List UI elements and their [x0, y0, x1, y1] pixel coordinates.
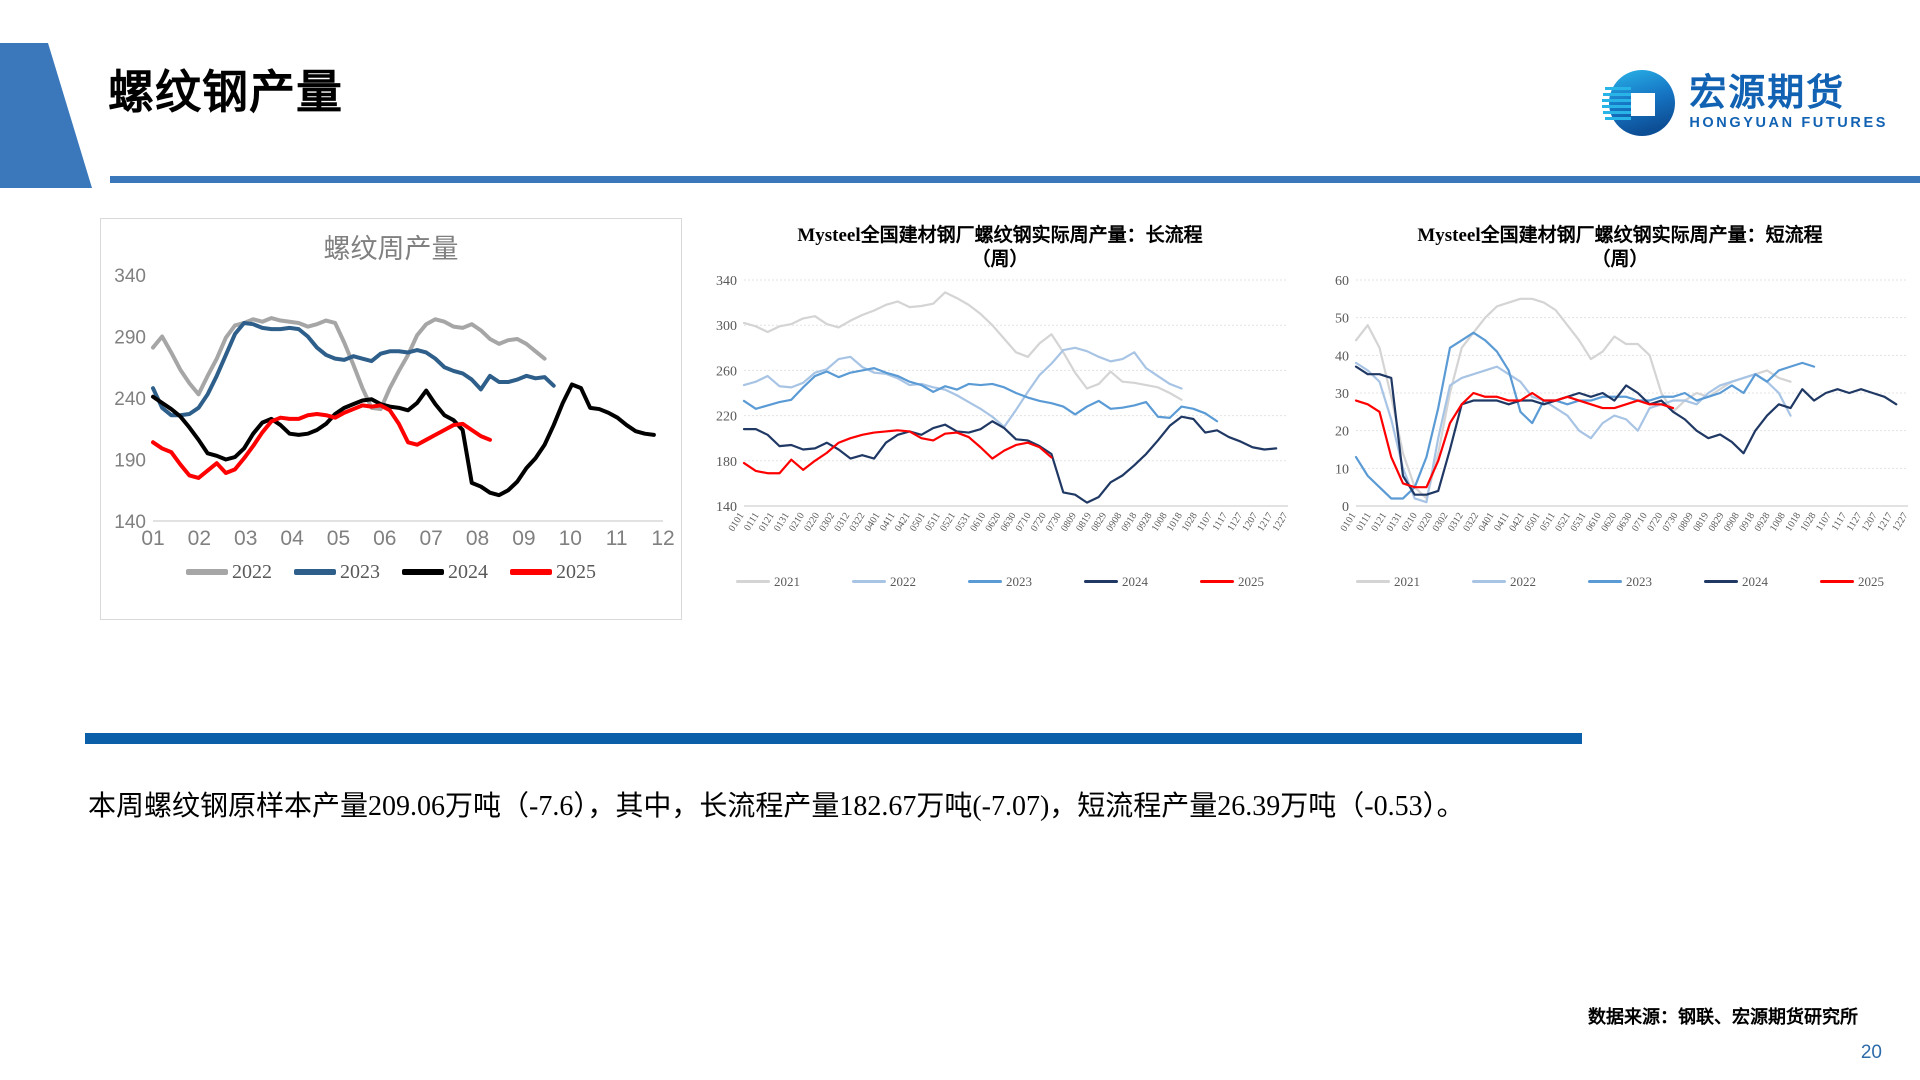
svg-text:0210: 0210 [1400, 510, 1420, 533]
legend-label-2023: 2023 [340, 561, 380, 584]
svg-text:0819: 0819 [1074, 510, 1094, 533]
legend-label-2024: 2024 [1122, 574, 1148, 590]
svg-text:0918: 0918 [1120, 510, 1140, 533]
svg-text:260: 260 [716, 364, 737, 379]
legend-label-2023: 2023 [1626, 574, 1652, 590]
svg-text:50: 50 [1335, 311, 1349, 326]
svg-text:0302: 0302 [1431, 510, 1451, 533]
chart-weekly-plot: 140190240290340010203040506070809101112 [101, 267, 681, 557]
svg-text:1028: 1028 [1799, 510, 1819, 533]
chart-short-process-output: Mysteel全国建材钢厂螺纹钢实际周产量：短流程 （周） 0102030405… [1320, 218, 1920, 618]
svg-text:0730: 0730 [1661, 510, 1681, 533]
legend-label-2021: 2021 [774, 574, 800, 590]
svg-text:30: 30 [1335, 387, 1349, 402]
legend-item-2024: 2024 [1704, 574, 1768, 590]
legend-swatch-2025 [1820, 580, 1854, 583]
legend-swatch-2021 [736, 580, 770, 583]
svg-text:0918: 0918 [1737, 510, 1757, 533]
svg-text:11: 11 [606, 527, 628, 550]
svg-text:1107: 1107 [1814, 510, 1834, 532]
svg-text:12: 12 [651, 527, 674, 550]
svg-text:60: 60 [1335, 274, 1349, 289]
chart-long-process-output: Mysteel全国建材钢厂螺纹钢实际周产量：长流程 （周） 1401802202… [700, 218, 1300, 618]
svg-text:0928: 0928 [1753, 510, 1773, 533]
legend-label-2024: 2024 [448, 561, 488, 584]
svg-text:0401: 0401 [1477, 510, 1497, 533]
svg-text:0531: 0531 [1569, 510, 1589, 533]
svg-text:1217: 1217 [1875, 510, 1895, 533]
svg-text:0220: 0220 [1415, 510, 1435, 533]
svg-text:0809: 0809 [1676, 510, 1696, 533]
svg-text:0620: 0620 [1599, 510, 1619, 533]
page-title: 螺纹钢产量 [108, 56, 343, 122]
svg-text:0829: 0829 [1707, 510, 1727, 533]
legend-item-2021: 2021 [736, 574, 800, 590]
svg-text:10: 10 [559, 527, 582, 550]
svg-text:1018: 1018 [1165, 510, 1185, 533]
svg-text:40: 40 [1335, 349, 1349, 364]
svg-text:0521: 0521 [938, 510, 958, 533]
brand-wordmark: 宏源期货 HONGYUAN FUTURES [1689, 74, 1888, 132]
legend-label-2022: 2022 [1510, 574, 1536, 590]
legend-label-2025: 2025 [556, 561, 596, 584]
svg-text:0210: 0210 [787, 510, 807, 533]
svg-text:340: 340 [716, 274, 737, 289]
svg-text:0908: 0908 [1104, 510, 1124, 533]
svg-text:0312: 0312 [1446, 510, 1466, 533]
svg-text:0131: 0131 [772, 510, 792, 533]
svg-text:1207: 1207 [1240, 510, 1260, 533]
svg-text:1008: 1008 [1768, 510, 1788, 533]
svg-text:08: 08 [466, 527, 489, 550]
svg-text:0819: 0819 [1691, 510, 1711, 533]
svg-text:1217: 1217 [1256, 510, 1276, 533]
legend-swatch-2022 [186, 569, 228, 575]
svg-text:1117: 1117 [1830, 510, 1850, 532]
chart-long-process-plot: 1401802202603003400101011101210131021002… [700, 272, 1300, 572]
svg-text:340: 340 [114, 267, 146, 287]
chart-weekly-title: 螺纹周产量 [101, 219, 681, 267]
svg-text:180: 180 [716, 454, 737, 469]
legend-swatch-2023 [294, 569, 336, 575]
legend-item-2025: 2025 [510, 561, 596, 584]
svg-text:0809: 0809 [1059, 510, 1079, 533]
svg-text:0121: 0121 [1369, 510, 1389, 533]
svg-text:0710: 0710 [1630, 510, 1650, 533]
legend-item-2022: 2022 [1472, 574, 1536, 590]
chart-short-process-plot: 0102030405060010101110121013102100220030… [1320, 272, 1920, 572]
svg-text:0730: 0730 [1044, 510, 1064, 533]
svg-text:10: 10 [1335, 462, 1349, 477]
chart-long-process-legend: 20212022202320242025 [700, 574, 1300, 590]
svg-text:1028: 1028 [1180, 510, 1200, 533]
svg-text:0720: 0720 [1029, 510, 1049, 533]
svg-text:04: 04 [280, 527, 304, 550]
legend-item-2023: 2023 [1588, 574, 1652, 590]
legend-item-2023: 2023 [968, 574, 1032, 590]
legend-swatch-2021 [1356, 580, 1390, 583]
svg-text:0501: 0501 [908, 510, 928, 533]
svg-text:01: 01 [141, 527, 164, 550]
legend-swatch-2025 [510, 569, 552, 575]
svg-text:290: 290 [114, 327, 146, 348]
legend-swatch-2024 [402, 569, 444, 575]
legend-item-2023: 2023 [294, 561, 380, 584]
svg-text:20: 20 [1335, 424, 1349, 439]
body-divider [85, 733, 1582, 744]
svg-text:0720: 0720 [1645, 510, 1665, 533]
svg-text:06: 06 [373, 527, 396, 550]
legend-item-2021: 2021 [1356, 574, 1420, 590]
legend-item-2024: 2024 [1084, 574, 1148, 590]
header-divider [110, 176, 1920, 183]
svg-text:140: 140 [716, 500, 737, 515]
svg-text:0131: 0131 [1385, 510, 1405, 533]
svg-text:0630: 0630 [999, 510, 1019, 533]
legend-swatch-2023 [1588, 580, 1622, 583]
legend-swatch-2022 [852, 580, 886, 583]
svg-text:1008: 1008 [1150, 510, 1170, 533]
svg-text:0302: 0302 [817, 510, 837, 533]
svg-text:0322: 0322 [848, 510, 868, 533]
svg-text:1227: 1227 [1271, 510, 1291, 533]
legend-item-2025: 2025 [1200, 574, 1264, 590]
svg-text:240: 240 [114, 389, 146, 410]
brand-logo: 宏源期货 HONGYUAN FUTURES [1601, 62, 1888, 144]
legend-label-2022: 2022 [890, 574, 916, 590]
svg-text:0928: 0928 [1135, 510, 1155, 533]
legend-label-2025: 2025 [1238, 574, 1264, 590]
page-number: 20 [1861, 1042, 1882, 1064]
svg-text:0531: 0531 [953, 510, 973, 533]
chart-short-process-legend: 20212022202320242025 [1320, 574, 1920, 590]
legend-label-2024: 2024 [1742, 574, 1768, 590]
chart-weekly-legend: 2022202320242025 [101, 561, 681, 584]
svg-text:0501: 0501 [1523, 510, 1543, 533]
legend-label-2023: 2023 [1006, 574, 1032, 590]
svg-text:0421: 0421 [893, 510, 913, 533]
summary-paragraph: 本周螺纹钢原样本产量209.06万吨（-7.6），其中，长流程产量182.67万… [88, 785, 1608, 828]
svg-text:0620: 0620 [984, 510, 1004, 533]
svg-text:03: 03 [234, 527, 257, 550]
svg-text:05: 05 [327, 527, 350, 550]
chart-weekly-rebar-output: 螺纹周产量 1401902402903400102030405060708091… [100, 218, 682, 620]
svg-text:1018: 1018 [1783, 510, 1803, 533]
svg-text:190: 190 [114, 450, 146, 471]
svg-text:1207: 1207 [1860, 510, 1880, 533]
svg-text:0322: 0322 [1461, 510, 1481, 533]
svg-text:0829: 0829 [1089, 510, 1109, 533]
header-corner-decoration [0, 43, 110, 188]
svg-text:300: 300 [716, 319, 737, 334]
legend-swatch-2024 [1704, 580, 1738, 583]
legend-label-2021: 2021 [1394, 574, 1420, 590]
legend-item-2024: 2024 [402, 561, 488, 584]
svg-text:0521: 0521 [1553, 510, 1573, 533]
svg-text:07: 07 [420, 527, 443, 550]
svg-text:02: 02 [188, 527, 211, 550]
brand-name-en: HONGYUAN FUTURES [1689, 115, 1888, 132]
svg-text:09: 09 [512, 527, 535, 550]
chart-short-process-title: Mysteel全国建材钢厂螺纹钢实际周产量：短流程 （周） [1320, 218, 1920, 272]
company-logo-icon [1601, 64, 1679, 142]
legend-item-2022: 2022 [186, 561, 272, 584]
svg-text:0630: 0630 [1615, 510, 1635, 533]
svg-text:0121: 0121 [757, 510, 777, 533]
svg-text:0610: 0610 [968, 510, 988, 533]
legend-item-2025: 2025 [1820, 574, 1884, 590]
svg-text:0421: 0421 [1507, 510, 1527, 533]
svg-text:0908: 0908 [1722, 510, 1742, 533]
svg-text:220: 220 [716, 409, 737, 424]
legend-label-2025: 2025 [1858, 574, 1884, 590]
legend-swatch-2024 [1084, 580, 1118, 583]
brand-name-cn: 宏源期货 [1689, 74, 1888, 113]
legend-swatch-2023 [968, 580, 1002, 583]
svg-text:0401: 0401 [863, 510, 883, 533]
chart-long-process-title: Mysteel全国建材钢厂螺纹钢实际周产量：长流程 （周） [700, 218, 1300, 272]
svg-text:0610: 0610 [1584, 510, 1604, 533]
svg-text:0220: 0220 [802, 510, 822, 533]
svg-text:0312: 0312 [832, 510, 852, 533]
legend-swatch-2025 [1200, 580, 1234, 583]
legend-label-2022: 2022 [232, 561, 272, 584]
svg-text:1107: 1107 [1195, 510, 1215, 532]
legend-item-2022: 2022 [852, 574, 916, 590]
svg-text:1227: 1227 [1891, 510, 1911, 533]
svg-text:0710: 0710 [1014, 510, 1034, 533]
data-source-note: 数据来源：钢联、宏源期货研究所 [1588, 1003, 1858, 1029]
legend-swatch-2022 [1472, 580, 1506, 583]
